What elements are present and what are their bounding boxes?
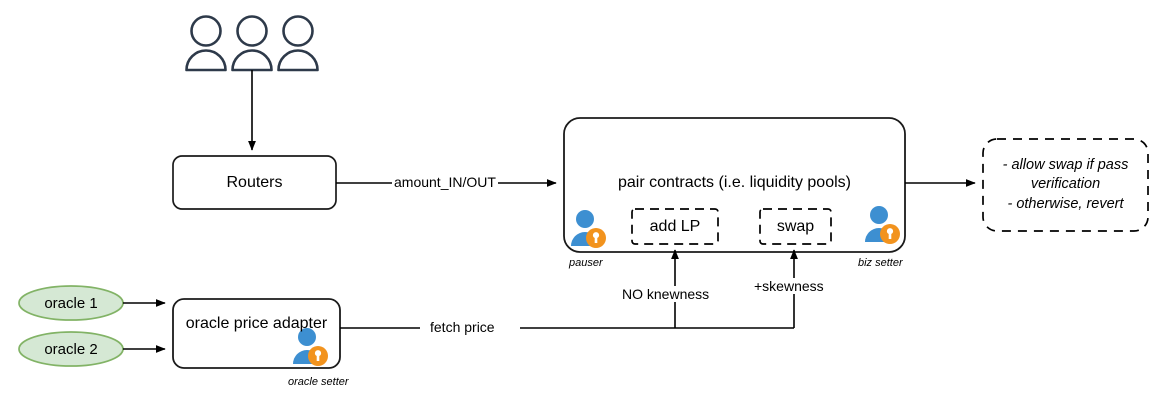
edge-label-amount-in-out: amount_IN/OUT (392, 174, 498, 190)
verification-text: - allow swap if pass verification - othe… (987, 139, 1144, 231)
oracle-2-node[interactable] (19, 332, 123, 366)
pauser-role-label: pauser (569, 257, 603, 269)
verification-line-1: - allow swap if pass (1003, 156, 1129, 176)
biz-setter-role-label: biz setter (858, 257, 903, 269)
edge-label-fetch-price: fetch price (428, 319, 497, 335)
users-group-icon (187, 17, 318, 71)
edge-label-plus-skewness: +skewness (752, 278, 826, 294)
edge-label-no-knewness: NO knewness (620, 286, 711, 302)
oracle-1-node[interactable] (19, 286, 123, 320)
verification-line-2: verification (1003, 175, 1129, 195)
oracle-setter-role-label: oracle setter (288, 376, 349, 388)
verification-line-3: - otherwise, revert (1003, 195, 1129, 215)
routers-node[interactable] (173, 156, 336, 209)
diagram-canvas: Routers amount_IN/OUT pair contracts (i.… (0, 0, 1167, 414)
pair-contracts-node[interactable] (564, 118, 905, 252)
add-lp-node[interactable] (632, 209, 718, 244)
swap-node[interactable] (760, 209, 831, 244)
